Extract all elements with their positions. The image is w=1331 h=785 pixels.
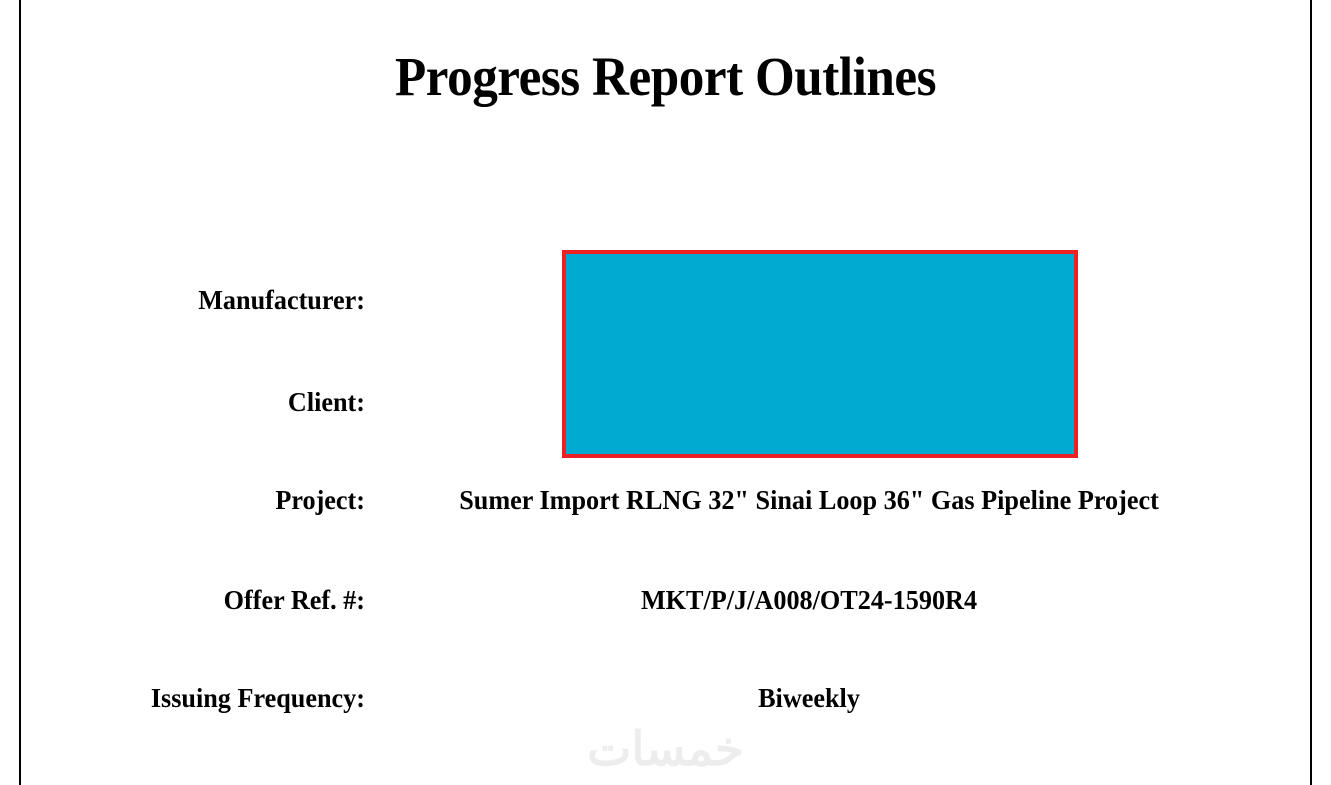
field-label-offer-ref: Offer Ref. #: — [50, 578, 365, 622]
field-value-project: Sumer Import RLNG 32" Sinai Loop 36" Gas… — [391, 478, 1227, 522]
field-row-offer-ref: Offer Ref. #: MKT/P/J/A008/OT24-1590R4 — [0, 578, 1331, 622]
field-label-issuing-frequency: Issuing Frequency: — [50, 676, 365, 720]
field-value-offer-ref: MKT/P/J/A008/OT24-1590R4 — [391, 578, 1227, 622]
field-value-issuing-frequency: Biweekly — [391, 676, 1227, 720]
field-label-client: Client: — [50, 380, 365, 424]
document-page: Progress Report Outlines Manufacturer: C… — [0, 0, 1331, 785]
field-label-manufacturer: Manufacturer: — [50, 278, 365, 322]
field-label-project: Project: — [50, 478, 365, 522]
redaction-box — [562, 250, 1078, 458]
page-title: Progress Report Outlines — [47, 48, 1285, 106]
watermark-text: خمسات — [0, 722, 1331, 777]
field-row-project: Project: Sumer Import RLNG 32" Sinai Loo… — [0, 478, 1331, 522]
field-row-issuing-frequency: Issuing Frequency: Biweekly — [0, 676, 1331, 720]
